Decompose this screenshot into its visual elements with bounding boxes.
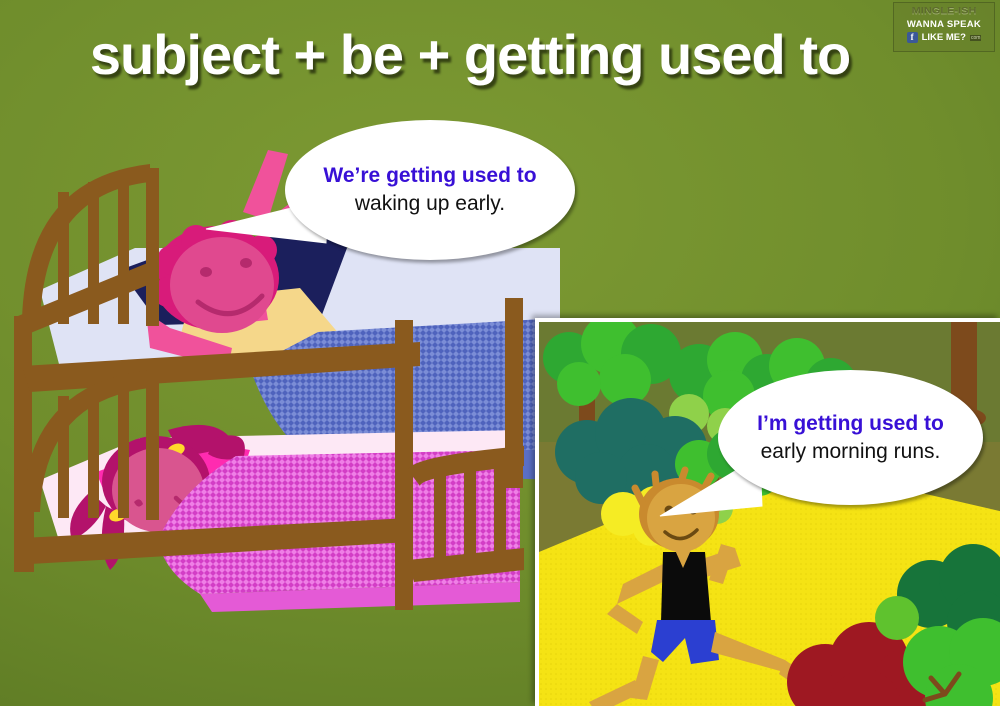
headboard-slat-1 [58, 192, 69, 324]
watermark-line-3-row: f LIKE ME? com [894, 32, 994, 43]
bubble2-highlight: I’m getting used to [757, 412, 944, 435]
speech-bubble-jogger-text: I’m getting used to early morning runs. [718, 410, 983, 465]
watermark-line-3: LIKE ME? [922, 32, 966, 43]
mingle-ish-watermark[interactable]: MINGLE-ISH WANNA SPEAK f LIKE ME? com [893, 2, 995, 52]
headboard-bottom-slat-2 [88, 386, 99, 518]
headboard-post-bottom [146, 372, 159, 520]
bubble2-rest: early morning runs. [761, 440, 941, 463]
bubble1-rest: waking up early. [355, 192, 505, 215]
top-bunk-eye-left [200, 267, 212, 277]
watermark-line-2: WANNA SPEAK [894, 19, 994, 30]
watermark-brand: MINGLE-ISH [894, 6, 994, 16]
headboard-bottom-slat-1 [58, 396, 69, 518]
watermark-badge: com [970, 35, 981, 41]
tree-canopy-l5 [557, 362, 601, 406]
footboard-slat-3 [494, 450, 506, 562]
bed-front-left-foot [14, 512, 34, 572]
illustration-canvas: We’re getting used to waking up early. I… [0, 0, 1000, 706]
headboard-post-top [146, 168, 159, 326]
facebook-icon[interactable]: f [907, 32, 918, 43]
speech-bubble-top-bunk: We’re getting used to waking up early. [285, 120, 575, 260]
footboard-slat-2 [464, 454, 476, 568]
page-title: subject + be + getting used to [0, 22, 940, 87]
headboard-bottom-slat-3 [118, 378, 129, 518]
speech-bubble-top-bunk-text: We’re getting used to waking up early. [285, 162, 575, 217]
jogger-tank-top [661, 552, 711, 622]
tree-canopy-l4 [599, 354, 651, 406]
bubble1-highlight: We’re getting used to [323, 164, 536, 187]
speech-bubble-jogger: I’m getting used to early morning runs. [718, 370, 983, 505]
headboard-slat-2 [88, 182, 99, 324]
headboard-slat-3 [118, 174, 129, 324]
lightgreen-canopy-right [875, 596, 919, 640]
